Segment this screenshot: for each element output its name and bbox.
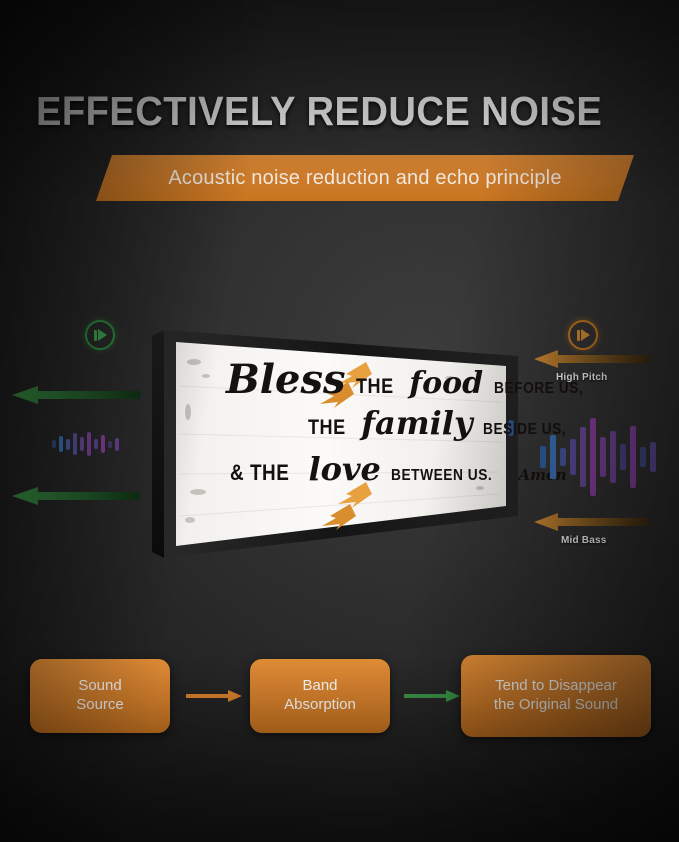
play-glyph <box>577 329 590 341</box>
green-arrow-left-bottom <box>12 487 140 505</box>
flow-step-sound-source: Sound Source <box>30 659 170 733</box>
flow-step1-line2: Source <box>76 696 124 715</box>
flow-step3-line2: the Original Sound <box>494 696 618 715</box>
play-glyph <box>94 329 107 341</box>
flow-step3-line1: Tend to Disappear <box>494 677 618 696</box>
play-forward-icon-left <box>85 320 115 350</box>
green-arrow-left-top <box>12 386 140 404</box>
flow-step-disappear: Tend to Disappear the Original Sound <box>461 655 651 737</box>
flow-arrow-2 <box>404 689 460 703</box>
infographic-canvas: EFFECTIVELY REDUCE NOISE Acoustic noise … <box>0 0 679 842</box>
product-sign: Bless THE food BEFORE US, THE family BES… <box>150 316 550 572</box>
play-forward-icon-right <box>568 320 598 350</box>
sound-wave-large-right <box>540 418 656 496</box>
flow-step2-line1: Band <box>284 677 356 696</box>
page-title: EFFECTIVELY REDUCE NOISE <box>36 88 602 135</box>
flow-step-band-absorption: Band Absorption <box>250 659 390 733</box>
sound-wave-small-left <box>52 432 119 456</box>
subtitle-text: Acoustic noise reduction and echo princi… <box>96 155 634 201</box>
flow-step2-line2: Absorption <box>284 696 356 715</box>
label-high-pitch: High Pitch <box>556 372 607 383</box>
sign-board <box>150 316 550 572</box>
orange-arrow-mid-bass <box>534 513 650 531</box>
label-mid-bass: Mid Bass <box>561 535 607 546</box>
subtitle-banner: Acoustic noise reduction and echo princi… <box>96 155 634 201</box>
flow-arrow-1 <box>186 689 242 703</box>
orange-arrow-high-pitch <box>534 350 650 368</box>
flow-step1-line1: Sound <box>76 677 124 696</box>
